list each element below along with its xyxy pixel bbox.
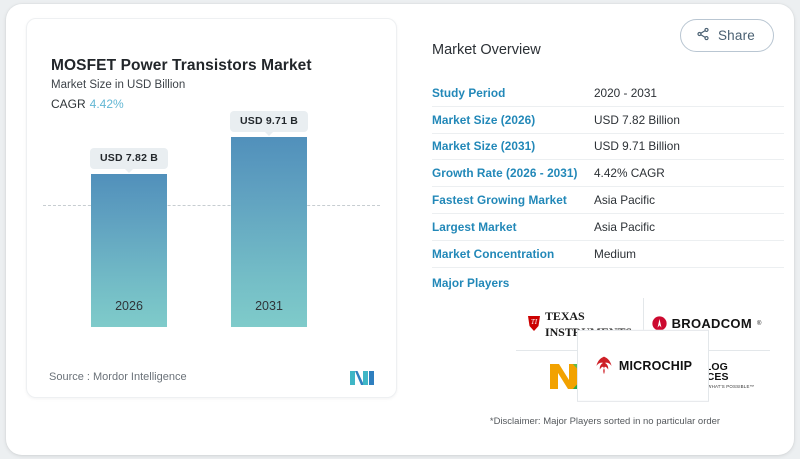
chart-title: MOSFET Power Transistors Market [51,57,312,75]
bar-value-label-2031: USD 9.71 B [230,111,308,132]
row-value: USD 9.71 Billion [594,139,680,153]
microchip-logo: MICROCHIP [594,355,692,375]
table-row: Growth Rate (2026 - 2031) 4.42% CAGR [432,160,784,187]
share-button[interactable]: Share [680,19,774,52]
screenshot-root: Share MOSFET Power Transistors Market Ma… [0,0,800,459]
chart-subtitle: Market Size in USD Billion [51,79,185,91]
row-key: Study Period [432,86,594,100]
player-cell-microchip[interactable]: MICROCHIP [577,329,709,401]
ti-line1: TEXAS [545,309,585,323]
row-key: Market Size (2031) [432,139,594,153]
row-key: Growth Rate (2026 - 2031) [432,166,594,180]
table-row: Market Size (2031) USD 9.71 Billion [432,134,784,161]
bar-group-2031: USD 9.71 B 2031 [231,137,307,327]
row-key: Largest Market [432,220,594,234]
row-key: Fastest Growing Market [432,193,594,207]
major-players-row: Major Players [432,268,784,298]
report-card: Share MOSFET Power Transistors Market Ma… [6,4,794,455]
major-players-logo-grid: TI TEXAS INSTRUMENTS BRO [516,298,770,402]
table-row: Study Period 2020 - 2031 [432,80,784,107]
row-value: USD 7.82 Billion [594,113,680,127]
bar-value-label-2026: USD 7.82 B [90,148,168,169]
ti-flag-icon: TI [527,315,542,332]
market-overview-panel: Market Overview Study Period 2020 - 2031… [432,18,784,427]
microchip-mark-icon [594,355,614,375]
row-value: Asia Pacific [594,193,655,207]
overview-table: Study Period 2020 - 2031 Market Size (20… [432,80,784,298]
bar-category-2026: 2026 [115,299,143,313]
bar-category-2031: 2031 [255,299,283,313]
row-key: Market Size (2026) [432,113,594,127]
chart-source-row: Source : Mordor Intelligence [49,369,374,385]
bar-chart-plot: USD 7.82 B 2026 USD 9.71 B 2031 [27,119,396,367]
row-value: Medium [594,247,636,261]
chart-cagr-value: 4.42% [90,97,124,111]
svg-text:TI: TI [531,318,538,326]
mordor-intelligence-logo [350,369,374,385]
bar-group-2026: USD 7.82 B 2026 [91,174,167,327]
chart-cagr: CAGR4.42% [51,97,124,111]
row-value: 4.42% CAGR [594,166,665,180]
table-row: Largest Market Asia Pacific [432,214,784,241]
table-row: Fastest Growing Market Asia Pacific [432,187,784,214]
major-players-label: Major Players [432,276,594,290]
row-value: 2020 - 2031 [594,86,657,100]
microchip-wordmark: MICROCHIP [619,358,692,372]
share-nodes-icon [696,27,710,44]
chart-cagr-label: CAGR [51,97,86,111]
row-key: Market Concentration [432,247,594,261]
players-disclaimer: *Disclaimer: Major Players sorted in no … [440,416,770,427]
chart-panel: MOSFET Power Transistors Market Market S… [26,18,397,398]
broadcom-tm: ® [757,321,761,327]
table-row: Market Size (2026) USD 7.82 Billion [432,107,784,134]
chart-source-text: Source : Mordor Intelligence [49,371,187,383]
table-row: Market Concentration Medium [432,241,784,268]
row-value: Asia Pacific [594,220,655,234]
share-button-label: Share [718,28,755,43]
